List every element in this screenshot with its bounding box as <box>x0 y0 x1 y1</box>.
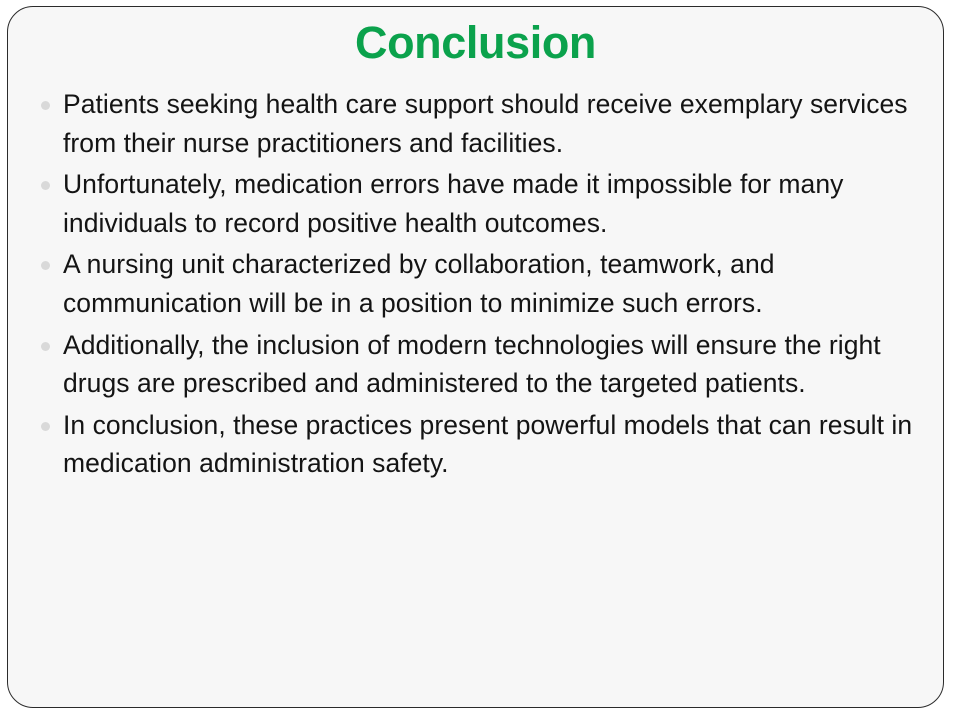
list-item: Unfortunately, medication errors have ma… <box>35 165 921 242</box>
filled-circle-bullet-icon <box>41 101 50 110</box>
filled-circle-bullet-icon <box>41 261 50 270</box>
bullet-list: Patients seeking health care support sho… <box>35 85 921 486</box>
page-title: Conclusion <box>8 15 943 71</box>
filled-circle-bullet-icon <box>41 181 50 190</box>
presentation-slide: Conclusion Patients seeking health care … <box>7 6 944 708</box>
list-item: Additionally, the inclusion of modern te… <box>35 326 921 403</box>
list-item-text: In conclusion, these practices present p… <box>63 406 921 483</box>
filled-circle-bullet-icon <box>41 342 50 351</box>
list-item-text: Unfortunately, medication errors have ma… <box>63 165 921 242</box>
list-item: In conclusion, these practices present p… <box>35 406 921 483</box>
list-item-text: Patients seeking health care support sho… <box>63 85 921 162</box>
list-item: A nursing unit characterized by collabor… <box>35 245 921 322</box>
list-item-text: Additionally, the inclusion of modern te… <box>63 326 921 403</box>
list-item-text: A nursing unit characterized by collabor… <box>63 245 921 322</box>
filled-circle-bullet-icon <box>41 422 50 431</box>
list-item: Patients seeking health care support sho… <box>35 85 921 162</box>
